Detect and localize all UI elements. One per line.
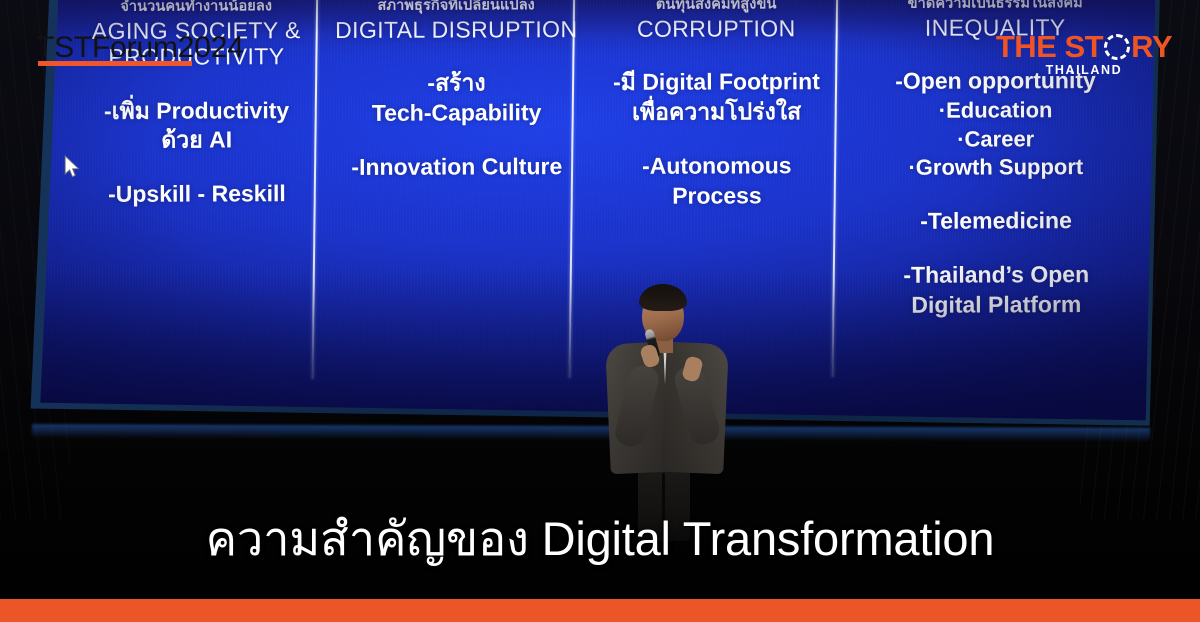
speaker-figure — [598, 287, 748, 537]
dashed-circle-icon — [1104, 34, 1130, 60]
presentation-screen: จำนวนคนทำงานน้อยลง AGING SOCIETY & PRODU… — [14, 0, 1160, 442]
watermark-underline — [38, 61, 192, 66]
logo-main-prefix: THE ST — [996, 31, 1103, 62]
caption-text: ความสำคัญของ Digital Transformation — [0, 501, 1200, 576]
logo-wordmark: THE ST RY — [996, 31, 1172, 62]
speaker-hair — [639, 284, 687, 311]
screen-vignette — [14, 0, 1160, 442]
watermark-text: TSTForum2024 — [36, 31, 244, 65]
screenshot-stage: จำนวนคนทำงานน้อยลง AGING SOCIETY & PRODU… — [0, 0, 1200, 622]
bottom-accent-bar — [0, 599, 1200, 622]
logo-subtitle: THAILAND — [996, 64, 1172, 77]
logo-main-suffix: RY — [1131, 31, 1172, 62]
mouse-pointer-arrow-icon — [64, 155, 81, 184]
the-story-thailand-logo[interactable]: THE ST RY THAILAND — [996, 31, 1172, 77]
